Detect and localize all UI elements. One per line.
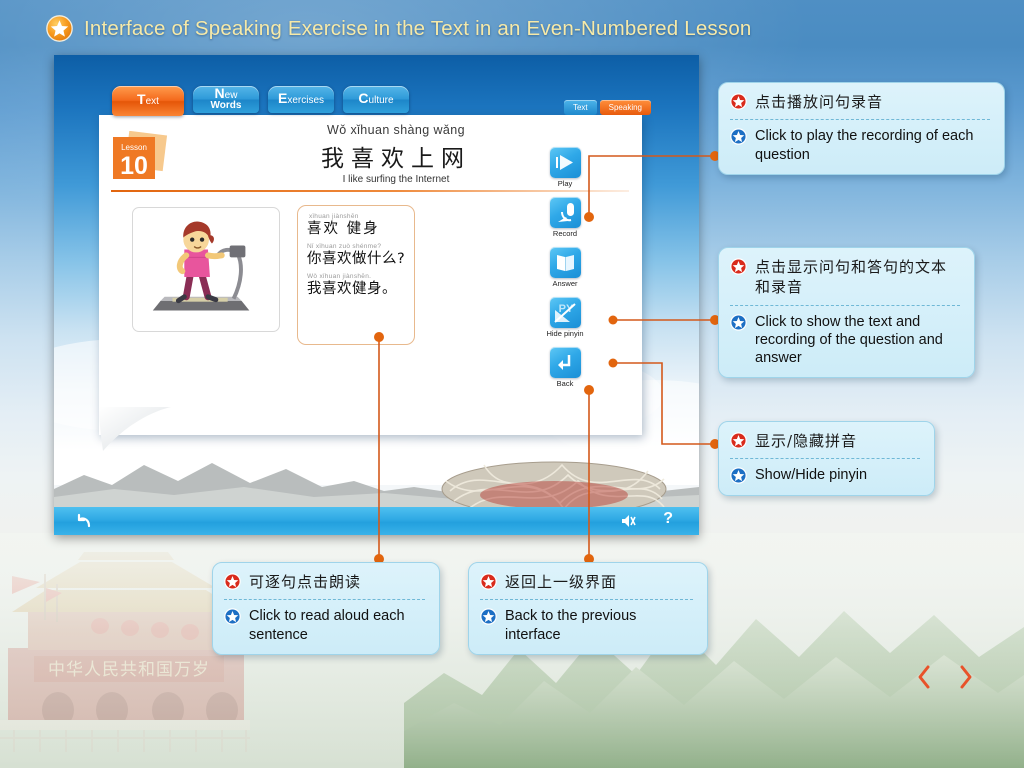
page-title: Interface of Speaking Exercise in the Te… [84,17,752,41]
callout-en-row: Click to play the recording of each ques… [730,127,992,164]
callout-cn-row: 可逐句点击朗读 [224,572,427,592]
callout-en-row: Back to the previous interface [480,607,695,644]
illustration-card [132,207,280,332]
play-icon [550,147,581,178]
play-button[interactable]: Play [542,147,588,188]
tab-culture-rest: ulture [369,95,394,106]
subtab-text[interactable]: Text [564,100,597,115]
subtab-speaking[interactable]: Speaking [600,100,651,115]
page-navigation[interactable] [914,664,976,690]
chevron-left-icon[interactable] [914,664,934,690]
callout-en-row: Click to show the text and recording of … [730,313,962,368]
callout-en-row: Show/Hide pinyin [730,466,922,484]
callout-divider [730,305,960,306]
red-star-bullet-icon [480,573,497,590]
dialogue-hanzi: 你喜欢做什么? [307,250,406,268]
lesson-title-hanzi: 我喜欢上网 [281,139,511,173]
app-window: Text New Words Exercises Culture Text Sp… [54,55,699,535]
dialogue-hanzi: 喜欢 健身 [307,220,406,238]
callout-divider [224,599,425,600]
dialogue-line[interactable]: Nǐ xǐhuan zuò shénme? 你喜欢做什么? [307,243,406,268]
dialogue-pinyin: Nǐ xǐhuan zuò shénme? [307,243,406,250]
tab-culture-cap: C [358,90,368,106]
svg-text:中华人民共和国万岁: 中华人民共和国万岁 [48,660,210,680]
callout-cn-text: 显示/隐藏拼音 [755,431,857,451]
callout-cn-row: 点击播放问句录音 [730,92,992,112]
dialogue-pinyin: Wǒ xǐhuan jiànshēn. [307,273,406,280]
callout-cn-row: 显示/隐藏拼音 [730,431,922,451]
hide-pinyin-button-label: Hide pinyin [542,329,588,338]
app-bottom-toolbar: ? [54,507,699,535]
callout-divider [730,119,990,120]
side-button-column[interactable]: Play Record Answer [542,147,590,397]
lesson-title-pinyin: Wǒ xǐhuan shàng wǎng [281,123,511,137]
undo-arrow-icon[interactable] [76,512,94,530]
callout-en-row: Click to read aloud each sentence [224,607,427,644]
red-star-bullet-icon [730,93,747,110]
callout-cn-row: 点击显示问句和答句的文本和录音 [730,257,962,298]
hide-pinyin-button[interactable]: PY Hide pinyin [542,297,588,338]
callout-play-recording: 点击播放问句录音 Click to play the recording of … [718,82,1005,175]
callout-divider [480,599,693,600]
star-badge-icon [46,15,73,42]
back-button[interactable]: Back [542,347,588,388]
blue-star-bullet-icon [480,608,497,625]
record-button[interactable]: Record [542,197,588,238]
tab-text[interactable]: Text [112,86,184,116]
blue-star-bullet-icon [730,128,747,145]
back-button-label: Back [542,379,588,388]
page-curl-decoration [99,407,171,455]
svg-text:PY: PY [558,303,573,315]
callout-divider [730,458,920,459]
dialogue-line[interactable]: xǐhuan jiànshēn 喜欢 健身 [307,213,406,238]
red-star-bullet-icon [730,432,747,449]
blue-star-bullet-icon [730,314,747,331]
sound-mute-icon[interactable] [619,512,637,530]
red-star-bullet-icon [730,258,747,275]
tab-text-rest: ext [146,96,159,107]
tab-culture[interactable]: Culture [343,86,409,113]
tab-new-words-line2: Words [211,101,242,111]
callout-show-hide-pinyin: 显示/隐藏拼音 Show/Hide pinyin [718,421,935,496]
back-arrow-icon [550,347,581,378]
book-icon [550,247,581,278]
callout-cn-text: 点击播放问句录音 [755,92,883,112]
blue-star-bullet-icon [730,467,747,484]
lesson-title-block: Wǒ xǐhuan shàng wǎng 我喜欢上网 I like surfin… [281,123,511,185]
dialogue-hanzi: 我喜欢健身。 [307,280,406,298]
callout-en-text: Click to show the text and recording of … [755,313,962,368]
callout-en-text: Click to play the recording of each ques… [755,127,992,164]
chevron-right-icon[interactable] [956,664,976,690]
callout-back-previous: 返回上一级界面 Back to the previous interface [468,562,708,655]
red-star-bullet-icon [224,573,241,590]
sub-tab-bar[interactable]: Text Speaking [564,100,651,115]
blue-star-bullet-icon [224,608,241,625]
page-header: Interface of Speaking Exercise in the Te… [46,15,752,42]
tab-new-words[interactable]: New Words [193,86,259,113]
main-tab-bar[interactable]: Text New Words Exercises Culture [112,86,409,116]
callout-en-text: Click to read aloud each sentence [249,607,427,644]
answer-button-label: Answer [542,279,588,288]
dialogue-card[interactable]: xǐhuan jiànshēn 喜欢 健身 Nǐ xǐhuan zuò shén… [297,205,415,345]
callout-cn-text: 点击显示问句和答句的文本和录音 [755,257,962,298]
callout-cn-row: 返回上一级界面 [480,572,695,592]
callout-en-text: Back to the previous interface [505,607,695,644]
tab-new-words-cap: N [215,85,225,101]
tab-exercises-cap: E [278,90,287,106]
callout-show-text-recording: 点击显示问句和答句的文本和录音 Click to show the text a… [718,247,975,378]
tab-exercises[interactable]: Exercises [268,86,334,113]
callout-read-aloud: 可逐句点击朗读 Click to read aloud each sentenc… [212,562,440,655]
lesson-badge-number: 10 [120,152,148,180]
answer-button[interactable]: Answer [542,247,588,288]
lesson-badge: Lesson 10 [111,131,169,185]
callout-cn-text: 返回上一级界面 [505,572,617,592]
dialogue-line[interactable]: Wǒ xǐhuan jiànshēn. 我喜欢健身。 [307,273,406,298]
lesson-title-english: I like surfing the Internet [281,174,511,185]
callout-en-text: Show/Hide pinyin [755,466,867,484]
treadmill-illustration [139,214,273,325]
dialogue-pinyin: xǐhuan jiànshēn [307,213,406,220]
pinyin-toggle-icon: PY [550,297,581,328]
play-button-label: Play [542,179,588,188]
record-button-label: Record [542,229,588,238]
help-icon[interactable]: ? [663,510,673,528]
tab-exercises-rest: xercises [287,95,324,106]
tab-text-cap: T [137,91,146,107]
lesson-badge-word: Lesson [121,143,147,152]
microphone-icon [550,197,581,228]
callout-cn-text: 可逐句点击朗读 [249,572,361,592]
